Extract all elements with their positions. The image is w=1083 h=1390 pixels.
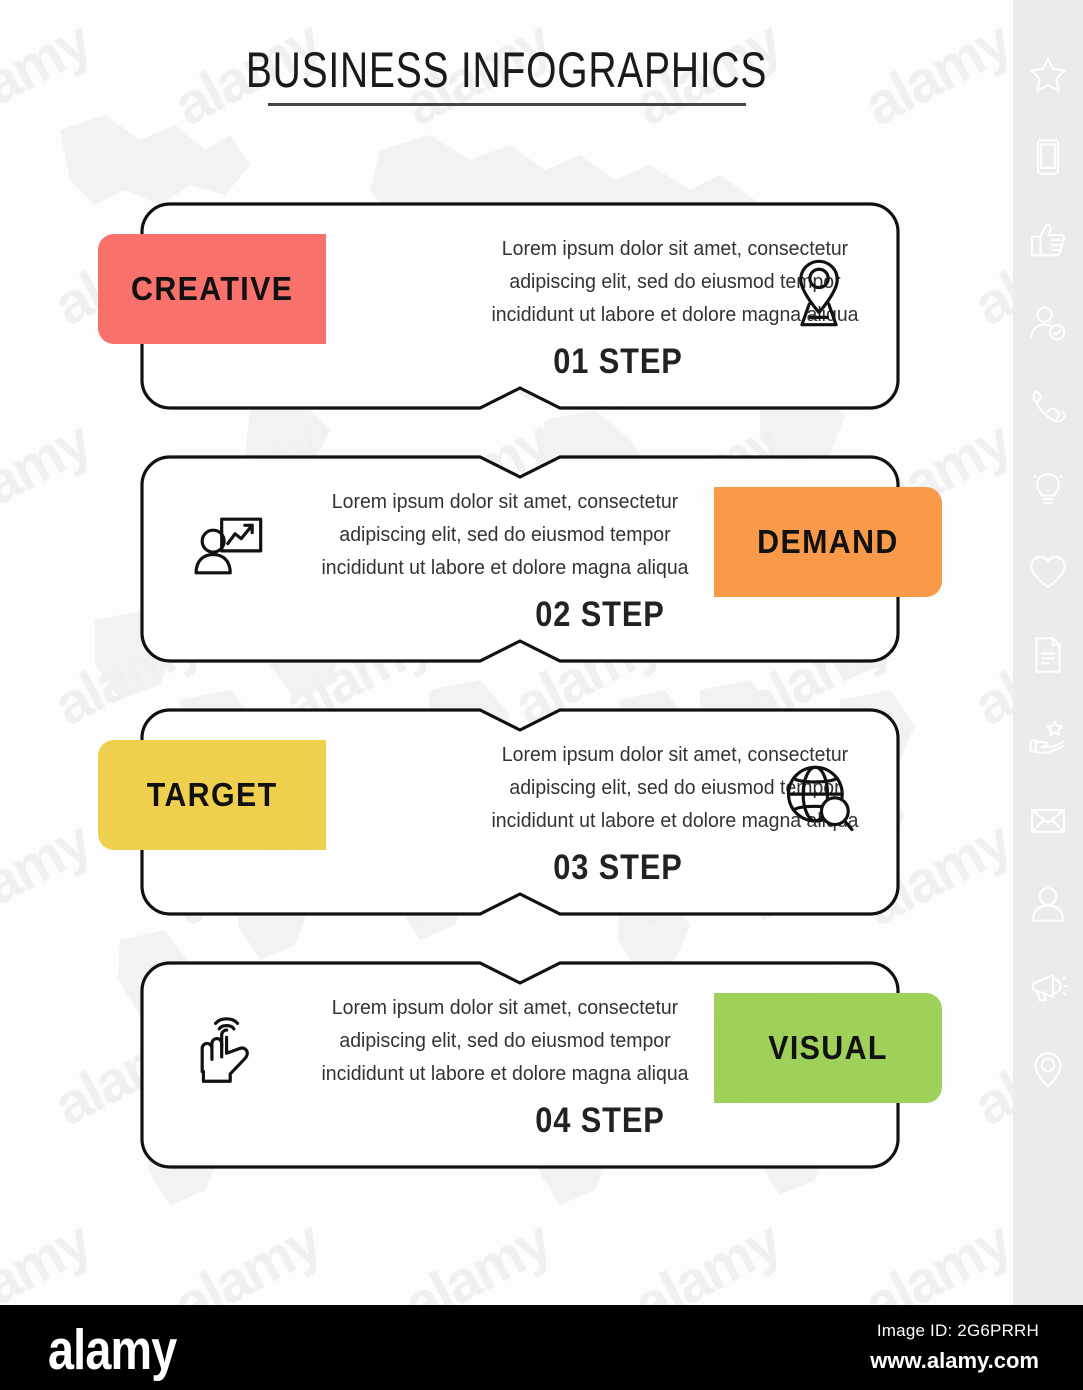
thumbs-up-icon xyxy=(1028,220,1068,260)
footer-meta: Image ID: 2G6PRRH www.alamy.com xyxy=(870,1321,1039,1374)
step-number-label: 04 STEP xyxy=(468,1101,732,1141)
hand-tap-icon xyxy=(190,1013,268,1091)
step-card-2[interactable]: DEMAND Lorem ipsum dolor sit amet, conse… xyxy=(140,455,900,663)
step-card-1[interactable]: CREATIVE Lorem ipsum dolor sit amet, con… xyxy=(140,202,900,410)
map-pin-icon xyxy=(1028,1050,1068,1090)
presentation-chart-icon xyxy=(190,507,268,585)
hand-star-icon xyxy=(1028,718,1068,758)
document-icon xyxy=(1028,635,1068,675)
step-badge-creative[interactable]: CREATIVE xyxy=(98,234,326,344)
title-underline xyxy=(268,103,746,106)
step-badge-visual[interactable]: VISUAL xyxy=(714,993,942,1103)
title-block: BUSINESS INFOGRAPHICS xyxy=(0,44,1013,106)
heart-icon xyxy=(1028,552,1068,592)
step-number-label: 02 STEP xyxy=(468,595,732,635)
infographic-page: alamyalamyalamyalamyalamyalamyalamyalamy… xyxy=(0,0,1083,1390)
user-icon xyxy=(1028,884,1068,924)
image-id-label: Image ID: 2G6PRRH xyxy=(870,1321,1039,1341)
step-number-label: 01 STEP xyxy=(486,342,750,382)
badge-label: CREATIVE xyxy=(131,270,293,308)
badge-label: VISUAL xyxy=(768,1029,888,1067)
step-badge-target[interactable]: TARGET xyxy=(98,740,326,850)
megaphone-icon xyxy=(1028,967,1068,1007)
lightbulb-icon xyxy=(1028,469,1068,509)
step-description: Lorem ipsum dolor sit amet, consectetur … xyxy=(315,991,695,1091)
phone-handset-icon xyxy=(1028,386,1068,426)
icon-rail xyxy=(1013,0,1083,1305)
footer-bar: alamy Image ID: 2G6PRRH www.alamy.com xyxy=(0,1305,1083,1390)
badge-label: DEMAND xyxy=(757,523,899,561)
envelope-icon xyxy=(1028,801,1068,841)
badge-label: TARGET xyxy=(147,776,278,814)
step-badge-demand[interactable]: DEMAND xyxy=(714,487,942,597)
infographic-canvas: BUSINESS INFOGRAPHICS CREATIVE Lorem ips… xyxy=(0,0,1013,1305)
alamy-url: www.alamy.com xyxy=(870,1348,1039,1374)
step-description: Lorem ipsum dolor sit amet, consectetur … xyxy=(315,485,695,585)
step-card-4[interactable]: VISUAL Lorem ipsum dolor sit amet, conse… xyxy=(140,961,900,1169)
step-number-label: 03 STEP xyxy=(486,848,750,888)
star-icon xyxy=(1028,54,1068,94)
globe-search-icon xyxy=(780,760,858,838)
alamy-logo: alamy xyxy=(48,1322,176,1379)
smartphone-icon xyxy=(1028,137,1068,177)
page-title: BUSINESS INFOGRAPHICS xyxy=(111,44,901,97)
step-card-3[interactable]: TARGET Lorem ipsum dolor sit amet, conse… xyxy=(140,708,900,916)
map-pin-icon xyxy=(780,254,858,332)
user-check-icon xyxy=(1028,303,1068,343)
